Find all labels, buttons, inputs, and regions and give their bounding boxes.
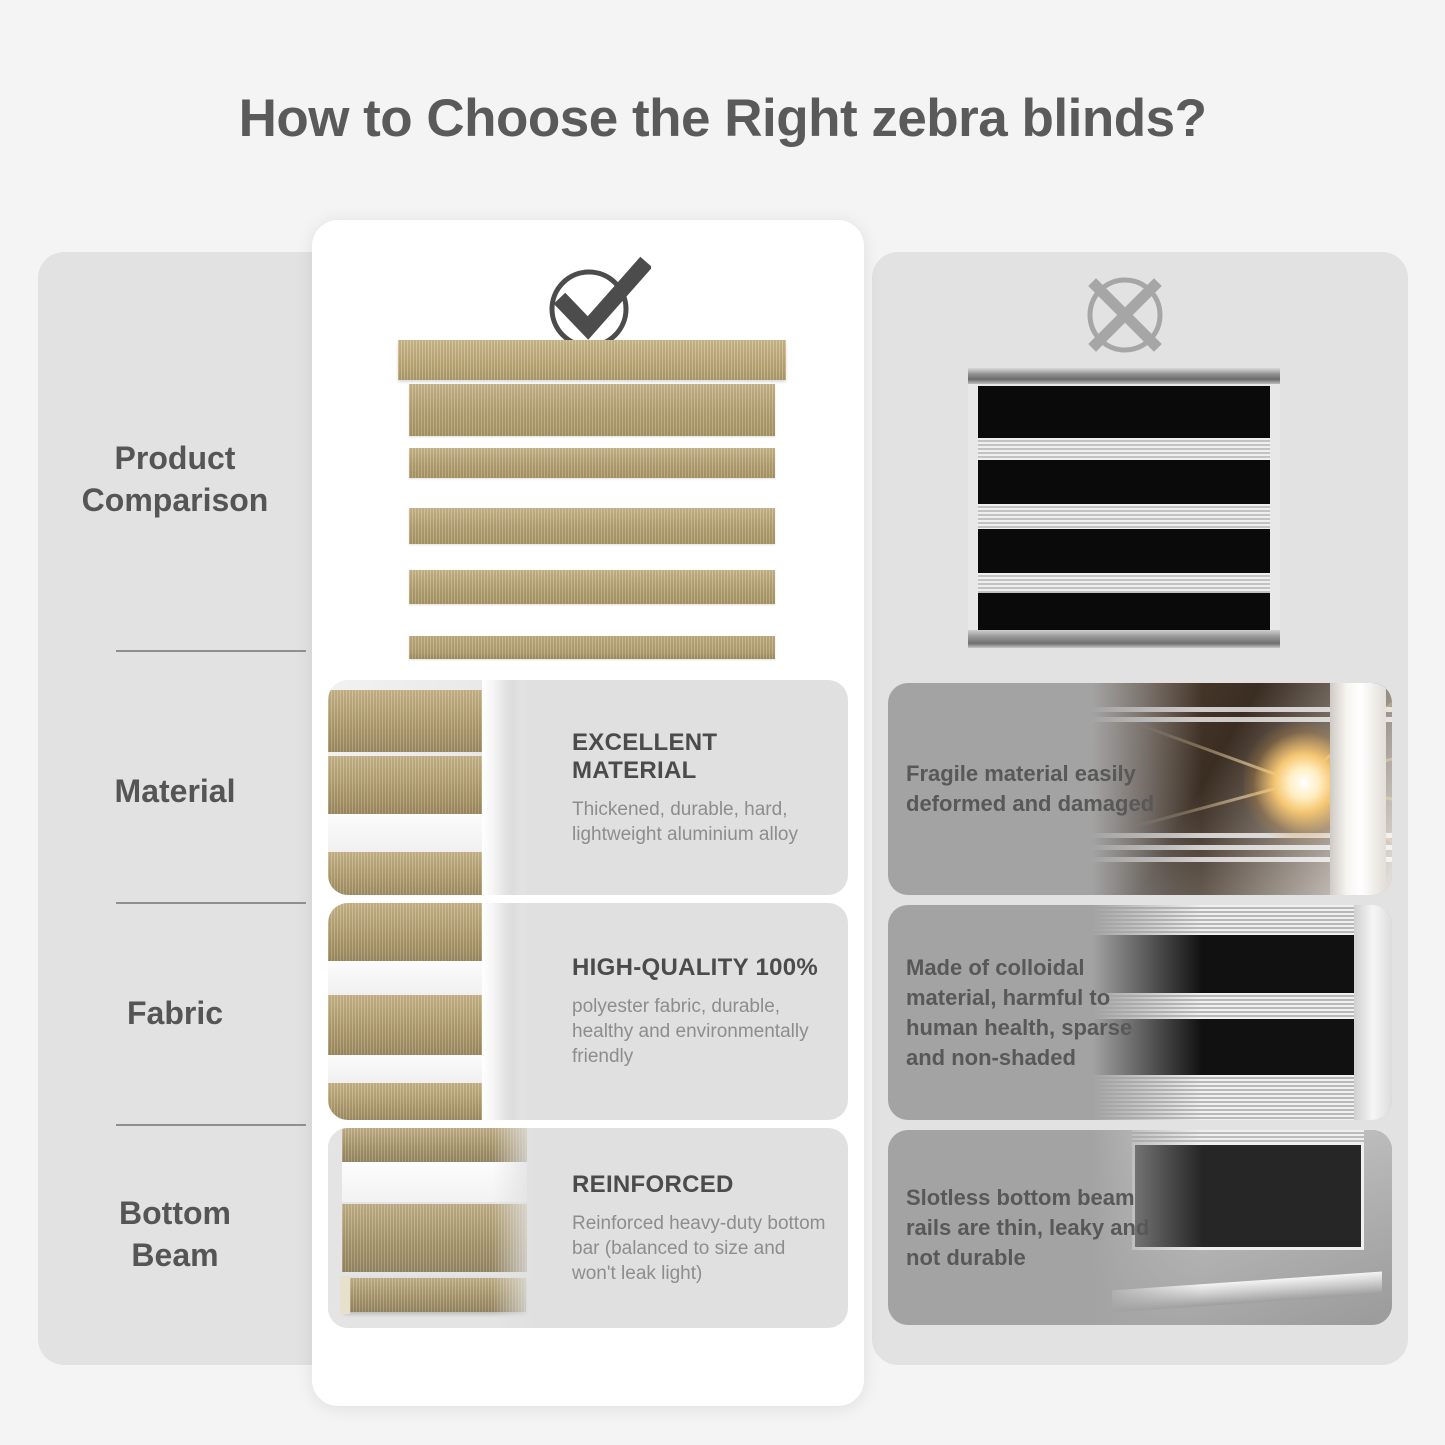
blind-stack-graphic — [328, 690, 504, 895]
row-label-line: Product — [38, 437, 312, 479]
row-label-product-comparison: Product Comparison — [38, 437, 312, 521]
blind-sheer — [342, 1162, 527, 1202]
blind-sheer — [328, 1055, 504, 1083]
feature-photo-material — [328, 680, 538, 895]
window-frame-graphic — [1354, 905, 1392, 1120]
blind-slat-sheer — [978, 438, 1270, 460]
blind-slat-sheer — [978, 573, 1270, 593]
blind-bottom-rail — [968, 630, 1280, 648]
drawback-card-material: Fragile material easily deformed and dam… — [888, 683, 1392, 895]
row-label-fabric: Fabric — [38, 992, 312, 1034]
row-label-line: Beam — [38, 1234, 312, 1276]
blind-slat — [342, 1128, 527, 1162]
row-divider — [116, 902, 306, 904]
blind-headrail — [398, 340, 786, 380]
feature-text-block: REINFORCED Reinforced heavy-duty bottom … — [572, 1128, 834, 1328]
page-title: How to Choose the Right zebra blinds? — [0, 88, 1445, 149]
drawback-card-bottom-beam: Slotless bottom beam rails are thin, lea… — [888, 1130, 1392, 1325]
blind-bottom-bar — [409, 636, 775, 659]
blind-slat — [328, 690, 504, 752]
blind-bottom-bar — [344, 1278, 526, 1312]
blind-slat — [409, 448, 775, 478]
feature-body: polyester fabric, durable, healthy and e… — [572, 994, 834, 1069]
feature-text-block: EXCELLENT MATERIAL Thickened, durable, h… — [572, 680, 834, 895]
infographic-page: How to Choose the Right zebra blinds? Pr… — [0, 0, 1445, 1445]
blind-slat — [328, 852, 504, 895]
feature-heading: REINFORCED — [572, 1171, 834, 1199]
blind-slat-dark — [978, 529, 1270, 573]
window-molding — [482, 903, 526, 1120]
feature-text-block: HIGH-QUALITY 100% polyester fabric, dura… — [572, 903, 834, 1120]
blind-slat-dark — [978, 593, 1270, 630]
row-label-column: Product Comparison Material Fabric Botto… — [38, 252, 312, 1365]
blind-slat — [409, 508, 775, 544]
feature-photo-bottom-bar — [328, 1128, 538, 1328]
feature-photo-fabric — [328, 903, 538, 1120]
blind-sheer — [328, 814, 504, 852]
feature-card-good-bottom-beam: REINFORCED Reinforced heavy-duty bottom … — [328, 1128, 848, 1328]
blind-slat-dark — [978, 386, 1270, 438]
blind-sheer — [328, 961, 504, 995]
blind-slat-sheer — [978, 504, 1270, 529]
blind-slat — [409, 384, 775, 436]
row-divider — [116, 1124, 306, 1126]
drawback-text: Fragile material easily deformed and dam… — [906, 683, 1176, 895]
hero-image-black-blind — [968, 368, 1280, 648]
blind-slat — [328, 903, 504, 961]
blind-slat — [342, 1204, 527, 1272]
blind-slat — [328, 995, 504, 1055]
row-label-line: Comparison — [38, 479, 312, 521]
feature-card-good-fabric: HIGH-QUALITY 100% polyester fabric, dura… — [328, 903, 848, 1120]
blind-slat — [328, 1083, 504, 1120]
row-divider — [116, 650, 306, 652]
feature-heading: EXCELLENT MATERIAL — [572, 729, 834, 785]
bottom-bar-end-cap — [340, 1276, 350, 1314]
drawback-text: Made of colloidal material, harmful to h… — [906, 905, 1176, 1120]
hero-image-beige-blind — [398, 340, 786, 665]
blind-slat — [409, 570, 775, 604]
feature-body: Thickened, durable, hard, lightweight al… — [572, 797, 834, 847]
feature-heading: HIGH-QUALITY 100% — [572, 954, 834, 982]
blind-headrail — [968, 368, 1280, 384]
blind-slat-dark — [978, 460, 1270, 504]
cross-circle-icon — [1078, 268, 1172, 362]
feature-card-good-material: EXCELLENT MATERIAL Thickened, durable, h… — [328, 680, 848, 895]
bottom-bar-graphic — [328, 1128, 538, 1328]
row-label-bottom-beam: Bottom Beam — [38, 1192, 312, 1276]
blind-slat — [328, 756, 504, 814]
window-molding — [482, 680, 526, 895]
window-frame-graphic — [1330, 683, 1386, 895]
feature-body: Reinforced heavy-duty bottom bar (balanc… — [572, 1211, 834, 1286]
row-label-line: Bottom — [38, 1192, 312, 1234]
drawback-text: Slotless bottom beam rails are thin, lea… — [906, 1130, 1176, 1325]
blind-stack-graphic — [328, 903, 504, 1120]
drawback-card-fabric: Made of colloidal material, harmful to h… — [888, 905, 1392, 1120]
row-label-material: Material — [38, 770, 312, 812]
